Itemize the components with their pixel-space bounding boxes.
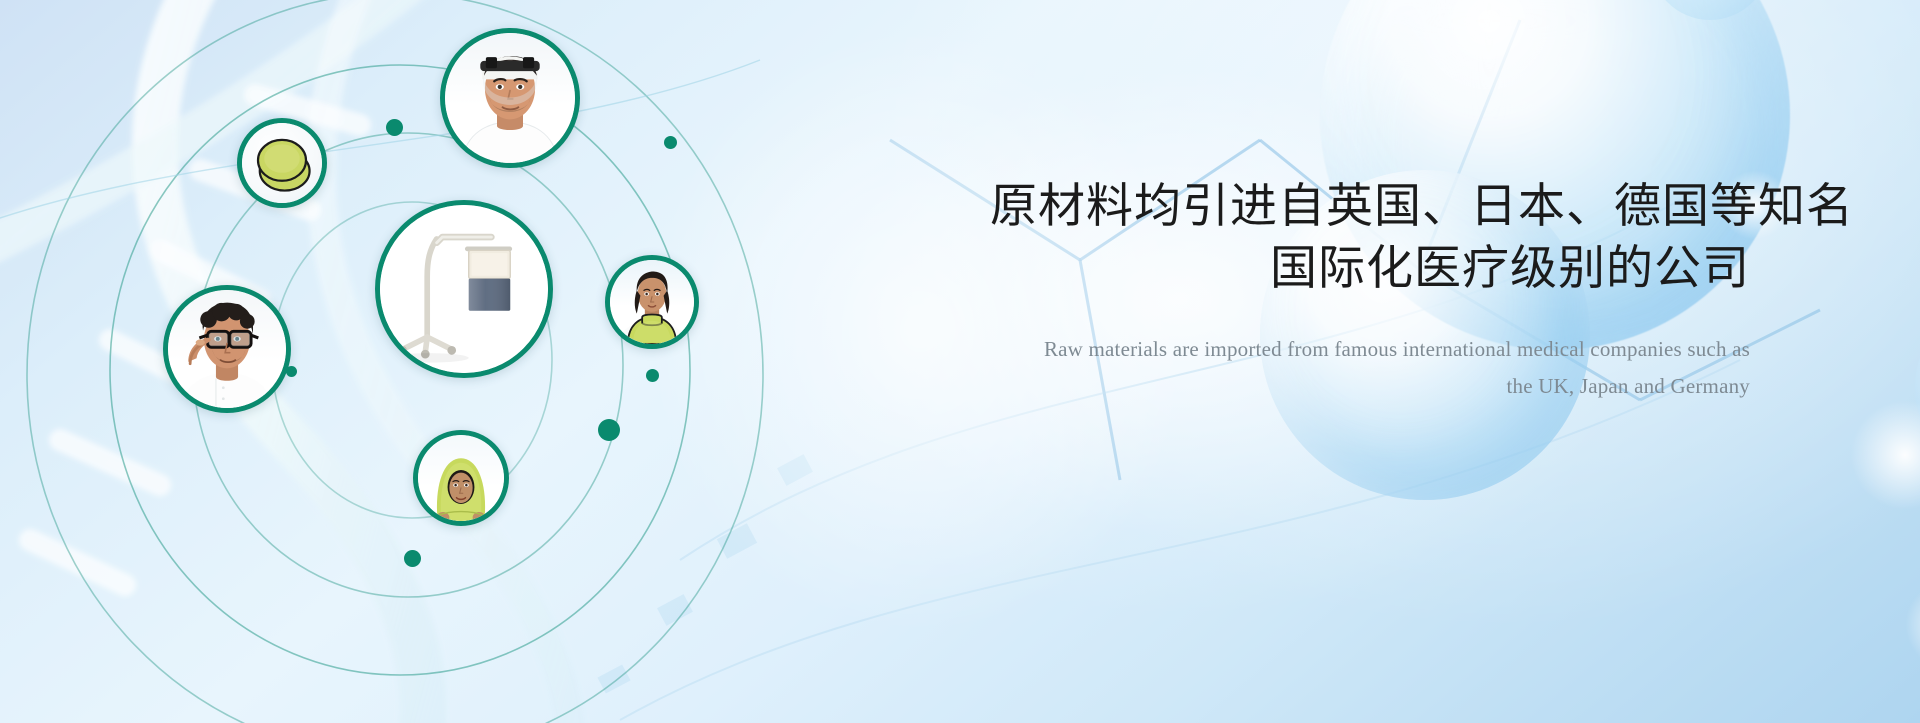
bubble-lead-glasses-man[interactable] [163,285,291,413]
headline-line-1: 原材料均引进自英国、日本、德国等知名 [990,179,1854,232]
bubble-thyroid-collar-woman[interactable] [605,255,699,349]
light-glow-1 [1850,400,1920,510]
orbit-dot-1 [386,119,403,136]
molecule-sphere-small [1915,295,1920,480]
light-glow-3 [1905,580,1920,670]
bubble-mobile-x-ray-barrier[interactable] [375,200,553,378]
thyroid-collar-woman-photo [610,260,694,344]
face-shield-man-photo [445,33,575,163]
orbit-dot-2 [664,136,677,149]
hero-banner: 原材料均引进自英国、日本、德国等知名 国际化医疗级别的公司 Raw materi… [0,0,1920,723]
lead-hood-woman-photo [418,435,504,521]
bubble-lead-hood-woman[interactable] [413,430,509,526]
lead-cap-photo [242,123,322,203]
subtitle-line-1: Raw materials are imported from famous i… [1044,337,1750,361]
bubble-lead-cap[interactable] [237,118,327,208]
bubble-face-shield-man[interactable] [440,28,580,168]
subtitle-line-2: the UK, Japan and Germany [990,368,1750,405]
banner-text-block: 原材料均引进自英国、日本、德国等知名 国际化医疗级别的公司 Raw materi… [990,175,1750,405]
molecule-sphere-tiny [1650,0,1770,20]
lead-glasses-man-photo [168,290,286,408]
banner-headline: 原材料均引进自英国、日本、德国等知名 国际化医疗级别的公司 [990,175,1750,299]
mobile-x-ray-barrier-photo [380,205,548,373]
orbit-dot-4 [646,369,659,382]
orbit-dot-5 [598,419,620,441]
orbit-dot-6 [404,550,421,567]
orbit-dot-3 [286,366,297,377]
banner-subtitle: Raw materials are imported from famous i… [990,331,1750,405]
headline-line-2: 国际化医疗级别的公司 [990,237,1750,299]
